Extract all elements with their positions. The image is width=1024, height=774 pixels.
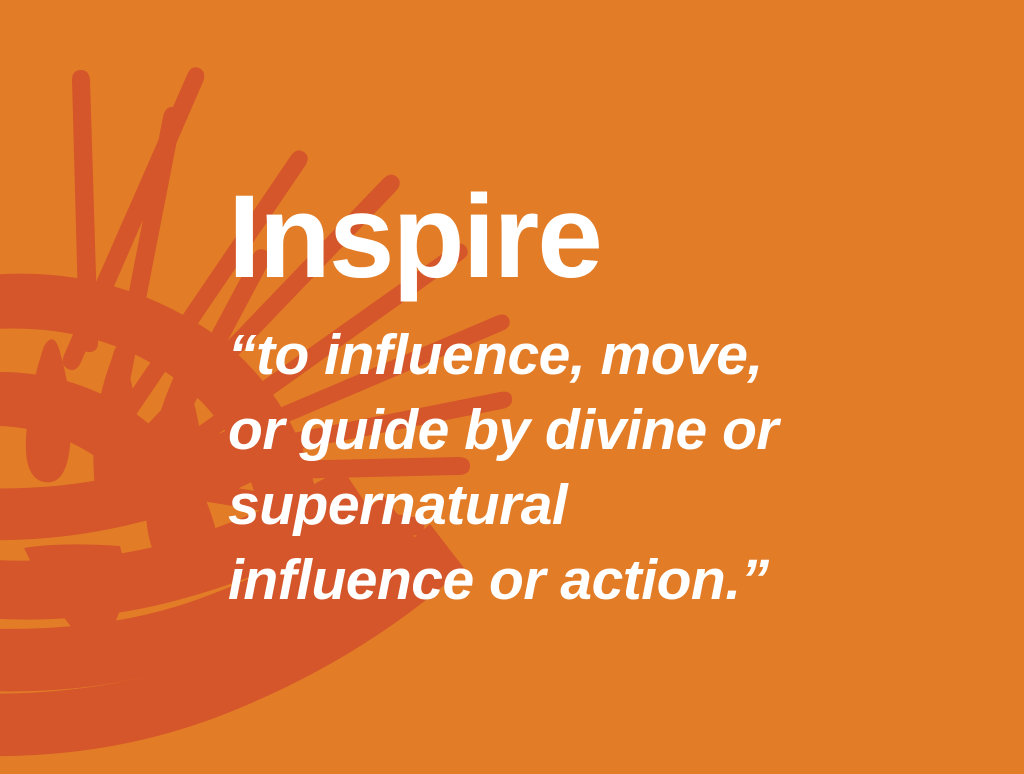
definition-quote: “to influence, move, or guide by divine … <box>228 318 928 618</box>
sun-ray <box>63 67 205 370</box>
text-content-block: Inspire “to influence, move, or guide by… <box>228 178 928 618</box>
quote-line: influence or action.” <box>228 543 928 618</box>
sun-ray <box>72 70 98 352</box>
page-title: Inspire <box>228 178 928 296</box>
flame-inner-center <box>93 346 140 520</box>
sun-ray <box>113 107 181 386</box>
quote-line: supernatural <box>228 468 928 543</box>
flame-large-right <box>146 360 207 570</box>
quote-line: “to influence, move, <box>228 318 928 393</box>
flame-base-tail <box>24 544 125 642</box>
flame-outer-left <box>26 339 71 482</box>
slide-canvas: Inspire “to influence, move, or guide by… <box>0 0 1024 774</box>
quote-line: or guide by divine or <box>228 393 928 468</box>
sun-arc <box>0 372 224 587</box>
flame-motif-group <box>24 339 206 642</box>
